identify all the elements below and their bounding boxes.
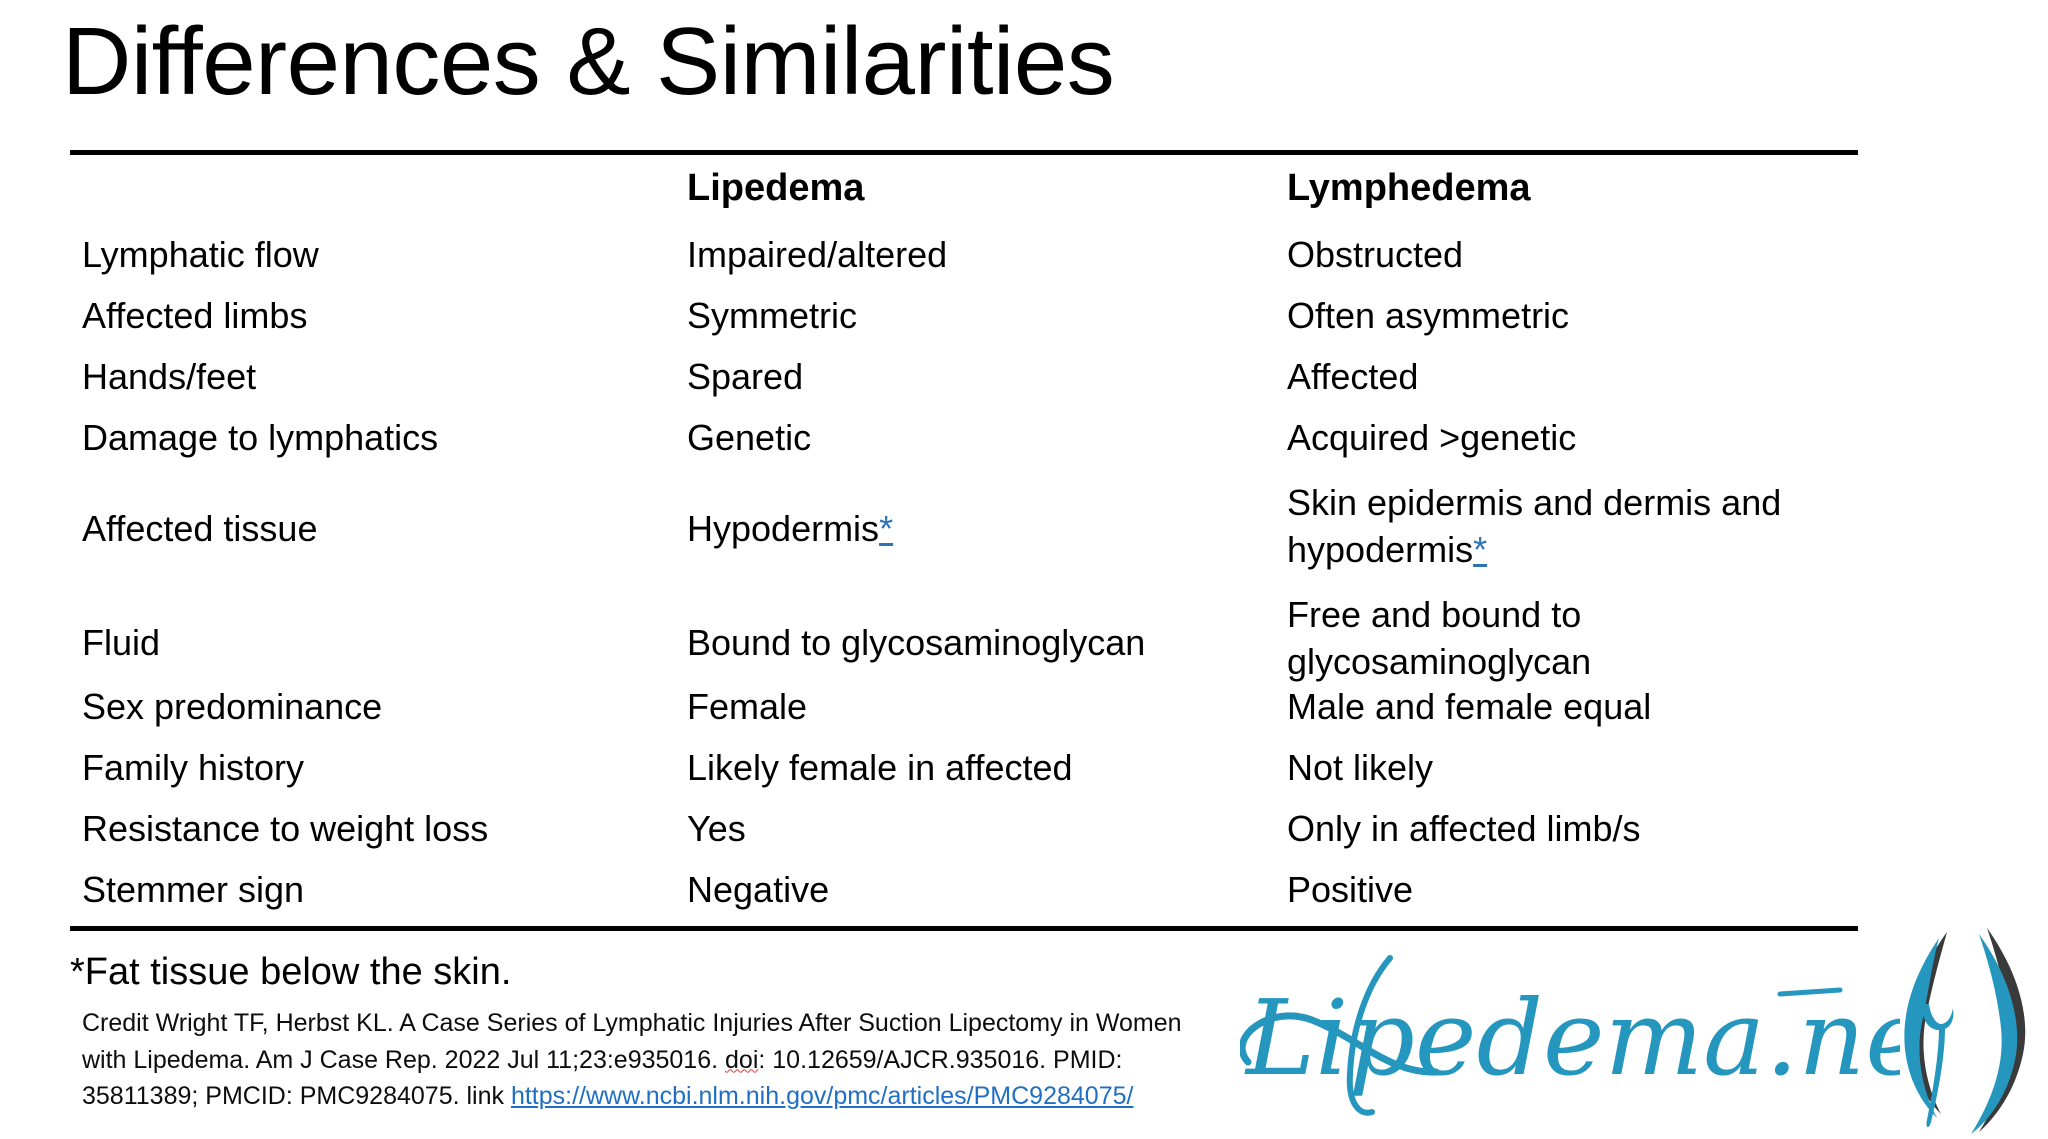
table-row: Family history Likely female in affected… [0, 745, 2048, 806]
row-label: Stemmer sign [0, 867, 600, 914]
credit-block: Credit Wright TF, Herbst KL. A Case Seri… [82, 1005, 1232, 1115]
row-label: Sex predominance [0, 684, 600, 731]
row-lipedema-value: Genetic [600, 415, 1200, 462]
article-url-link[interactable]: https://www.ncbi.nlm.nih.gov/pmc/article… [511, 1082, 1134, 1110]
row-lipedema-value: Negative [600, 867, 1200, 914]
row-lymphedema-value: Acquired >genetic [1200, 415, 2048, 462]
row-lymphedema-value: Obstructed [1200, 232, 2048, 279]
doi-label: doi [725, 1046, 758, 1074]
lipedema-tissue-text: Hypodermis [687, 508, 879, 549]
row-lymphedema-value: Not likely [1200, 745, 2048, 792]
row-lymphedema-value: Free and bound to glycosaminoglycan [1200, 584, 2048, 686]
row-lipedema-value: Symmetric [600, 293, 1200, 340]
row-lymphedema-value: Positive [1200, 867, 2048, 914]
table-row: Affected tissue Hypodermis* Skin epiderm… [0, 476, 2048, 584]
table-row: Stemmer sign Negative Positive [0, 867, 2048, 928]
row-lymphedema-value: Male and female equal [1200, 684, 2048, 731]
row-lymphedema-value: Often asymmetric [1200, 293, 2048, 340]
lipedema-net-logo[interactable]: Lipedema.net [1240, 920, 2048, 1139]
row-lipedema-value: Impaired/altered [600, 232, 1200, 279]
table-row: Resistance to weight loss Yes Only in af… [0, 806, 2048, 867]
table-row: Sex predominance Female Male and female … [0, 684, 2048, 745]
slide-canvas: Differences & Similarities Lipedema Lymp… [0, 0, 2048, 1139]
row-label: Affected tissue [0, 476, 600, 553]
row-lymphedema-value: Affected [1200, 354, 2048, 401]
row-lipedema-value: Hypodermis* [600, 476, 1200, 553]
logo-wordmark: Lipedema.net [1240, 934, 1900, 1124]
table-row: Affected limbs Symmetric Often asymmetri… [0, 293, 2048, 354]
row-lymphedema-value: Skin epidermis and dermis and hypodermis… [1200, 476, 2048, 574]
footnote-asterisk-link[interactable]: * [1473, 529, 1487, 570]
row-label: Family history [0, 745, 600, 792]
row-lipedema-value: Spared [600, 354, 1200, 401]
page-title: Differences & Similarities [62, 8, 1114, 116]
row-lipedema-value: Likely female in affected [600, 745, 1200, 792]
table-row: Damage to lymphatics Genetic Acquired >g… [0, 415, 2048, 476]
row-lipedema-value: Yes [600, 806, 1200, 853]
top-divider [70, 150, 1858, 155]
row-label: Lymphatic flow [0, 232, 600, 279]
table-row: Fluid Bound to glycosaminoglycan Free an… [0, 584, 2048, 684]
row-lymphedema-value: Only in affected limb/s [1200, 806, 2048, 853]
table-row: Hands/feet Spared Affected [0, 354, 2048, 415]
row-lipedema-value: Bound to glycosaminoglycan [600, 584, 1200, 667]
footnote-asterisk-link[interactable]: * [879, 508, 893, 549]
row-label: Resistance to weight loss [0, 806, 600, 853]
row-label: Damage to lymphatics [0, 415, 600, 462]
table-header-row: Lipedema Lymphedema [0, 160, 2048, 232]
lymphedema-tissue-text: Skin epidermis and dermis and hypodermis [1287, 482, 1781, 570]
footnote-text: *Fat tissue below the skin. [70, 950, 511, 996]
table-row: Lymphatic flow Impaired/altered Obstruct… [0, 232, 2048, 293]
header-lipedema: Lipedema [600, 164, 1200, 213]
row-label: Affected limbs [0, 293, 600, 340]
header-lymphedema: Lymphedema [1200, 164, 2048, 213]
comparison-table: Lipedema Lymphedema Lymphatic flow Impai… [0, 160, 2048, 928]
row-label: Hands/feet [0, 354, 600, 401]
body-silhouette-icon [1895, 924, 2045, 1136]
row-label: Fluid [0, 584, 600, 667]
row-lipedema-value: Female [600, 684, 1200, 731]
